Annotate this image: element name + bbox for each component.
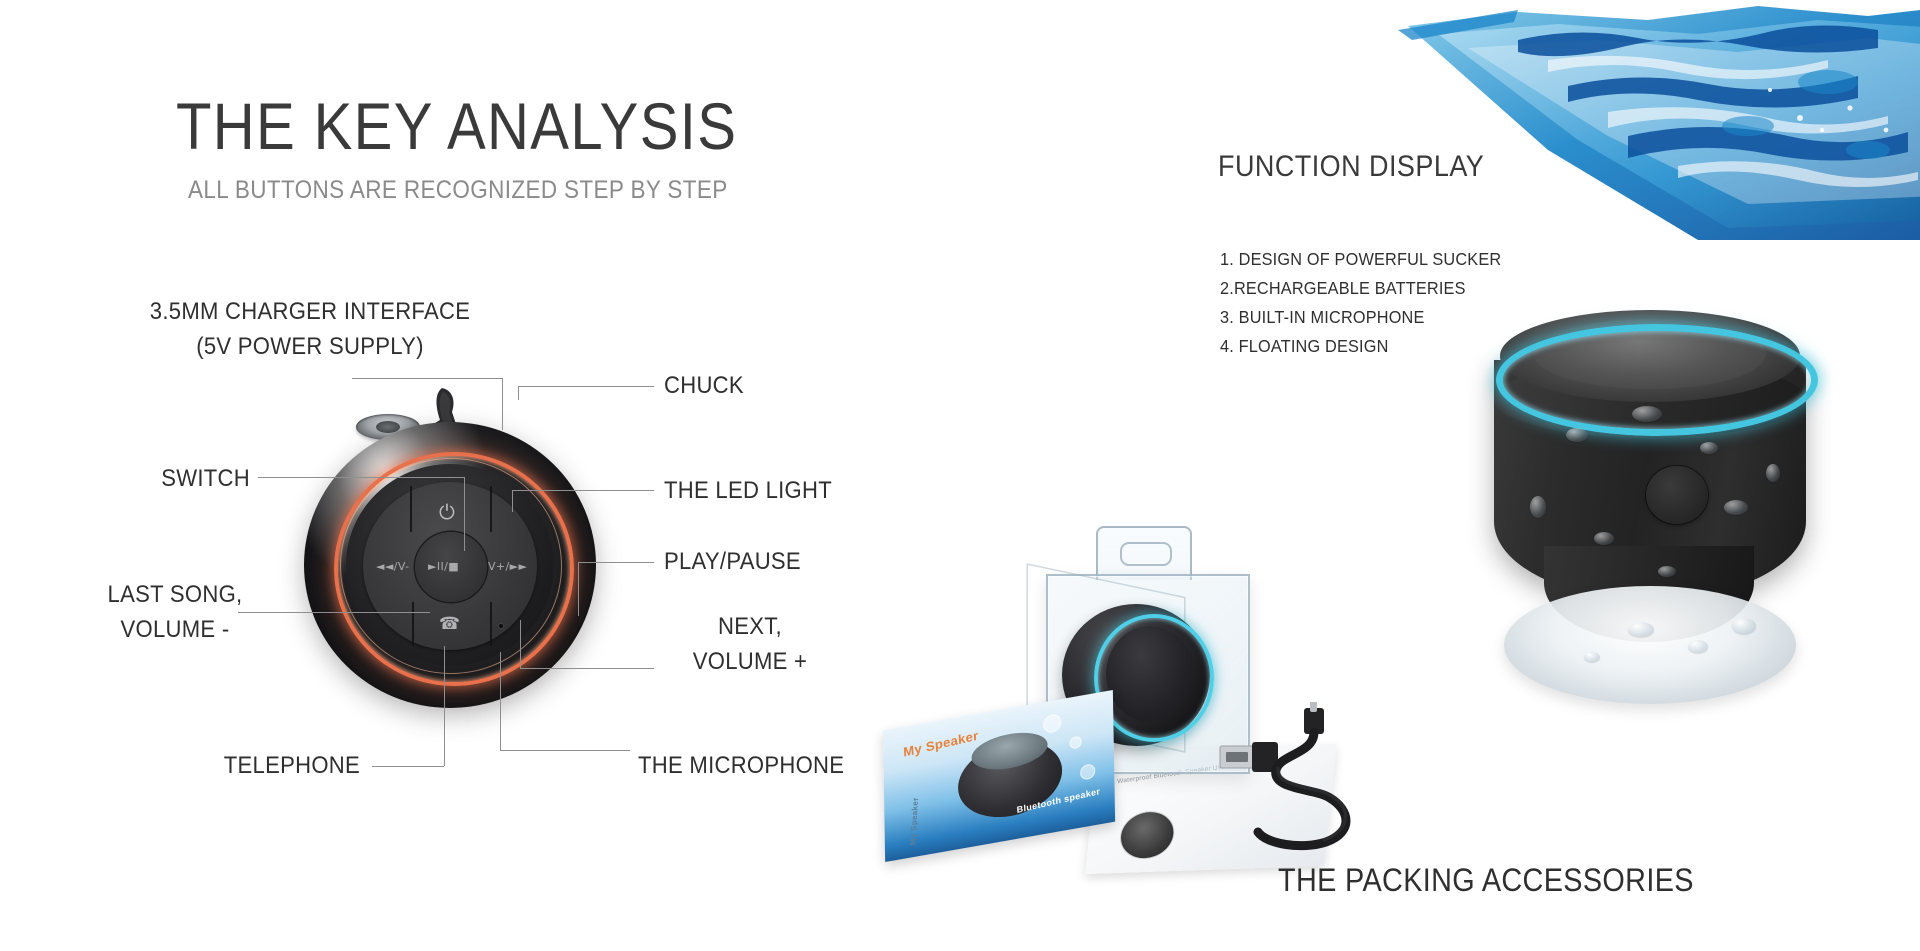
leader-line-chuck <box>518 386 654 387</box>
leader-line-charger-v <box>502 378 503 430</box>
water-droplet <box>1766 464 1780 482</box>
leader-line-chuck-v <box>518 386 519 400</box>
callout-chuck: CHUCK <box>664 372 744 400</box>
product-side-button <box>1646 466 1708 524</box>
leader-line-charger <box>352 378 502 379</box>
function-item: 1. DESIGN OF POWERFUL SUCKER <box>1220 245 1501 274</box>
product-photo-wet-speaker <box>1448 300 1868 720</box>
play-pause-icon: ►II/■ <box>428 560 459 573</box>
water-droplet <box>1628 622 1654 637</box>
packing-accessories-caption: THE PACKING ACCESSORIES <box>1278 862 1694 899</box>
bubble-decoration <box>1043 713 1061 734</box>
water-droplet <box>1632 406 1662 422</box>
callout-telephone: TELEPHONE <box>84 752 360 780</box>
callout-last-song-line1: LAST SONG, <box>78 578 271 613</box>
function-display-title: FUNCTION DISPLAY <box>1218 150 1484 184</box>
bubble-decoration <box>1080 763 1095 781</box>
clear-box-hanger <box>1096 526 1192 580</box>
next-volume-up-icon: V+/►► <box>488 560 527 573</box>
leader-line-play <box>578 562 654 563</box>
leader-line-telephone <box>372 766 444 767</box>
callout-play-pause: PLAY/PAUSE <box>664 548 801 576</box>
callout-charger: 3.5MM CHARGER INTERFACE (5V POWER SUPPLY… <box>135 295 485 365</box>
boxed-speaker-face <box>1106 626 1194 722</box>
leader-line-next-v <box>520 620 521 668</box>
power-icon: ⏻ <box>439 500 455 524</box>
leader-line-led <box>512 490 654 491</box>
leader-line-mic-v <box>500 652 501 750</box>
leader-line-telephone-v <box>444 646 445 766</box>
package-box-side-text: My Speaker <box>909 797 920 846</box>
page-subtitle: ALL BUTTONS ARE RECOGNIZED STEP BY STEP <box>188 176 728 205</box>
pad-divider <box>410 486 412 532</box>
callout-charger-line2: (5V POWER SUPPLY) <box>135 330 485 365</box>
water-droplet <box>1594 532 1614 545</box>
callout-charger-line1: 3.5MM CHARGER INTERFACE <box>135 295 485 330</box>
leader-line-switch <box>258 477 464 478</box>
telephone-icon: ☎ <box>439 614 461 634</box>
leader-line-play-v <box>578 562 579 616</box>
product-package-box: My Speaker Bluetooth speaker My Speaker <box>883 690 1115 862</box>
page-title: THE KEY ANALYSIS <box>176 88 737 164</box>
packing-accessories-photo: Waterproof Bluetooth Speaker User Manual… <box>900 530 1400 880</box>
prev-volume-down-icon: ◄◄/V- <box>376 560 409 573</box>
pad-divider <box>490 486 492 532</box>
product-suction-cup <box>1504 586 1796 704</box>
infographic-canvas: THE KEY ANALYSIS ALL BUTTONS ARE RECOGNI… <box>0 0 1920 951</box>
callout-next-line1: NEXT, <box>667 610 833 645</box>
water-droplet <box>1732 618 1756 634</box>
callout-microphone: THE MICROPHONE <box>638 752 844 780</box>
callout-next: NEXT, VOLUME + <box>667 610 833 680</box>
microphone-hole-icon <box>499 624 503 628</box>
water-droplet <box>1700 442 1718 454</box>
user-manual-illustration <box>1119 811 1176 859</box>
callout-switch: SWITCH <box>66 465 250 493</box>
bubble-decoration <box>1070 735 1082 749</box>
package-box-product-image <box>957 733 1062 825</box>
water-droplet <box>1530 496 1546 518</box>
leader-line-mic <box>500 750 630 751</box>
pad-divider <box>490 602 492 646</box>
water-droplet <box>1584 652 1600 662</box>
pad-divider <box>412 602 414 646</box>
callout-next-line2: VOLUME + <box>667 645 833 680</box>
callout-last-song-line2: VOLUME - <box>78 613 271 648</box>
usb-audio-cable <box>1218 702 1408 862</box>
water-droplet <box>1566 428 1588 442</box>
callout-last-song: LAST SONG, VOLUME - <box>78 578 271 648</box>
leader-line-led-v <box>512 490 513 512</box>
speaker-diagram-image: ⏻ ◄◄/V- ►II/■ V+/►► ☎ <box>300 382 600 712</box>
water-droplet <box>1724 500 1748 515</box>
water-droplet <box>1658 566 1676 577</box>
package-box-logo: My Speaker <box>903 728 979 760</box>
leader-line-switch-v <box>464 477 465 551</box>
leader-line-next <box>520 668 654 669</box>
callout-led-light: THE LED LIGHT <box>664 477 832 505</box>
function-item: 2.RECHARGEABLE BATTERIES <box>1220 274 1501 303</box>
water-splash-image <box>1398 0 1920 240</box>
water-droplet <box>1688 640 1708 653</box>
